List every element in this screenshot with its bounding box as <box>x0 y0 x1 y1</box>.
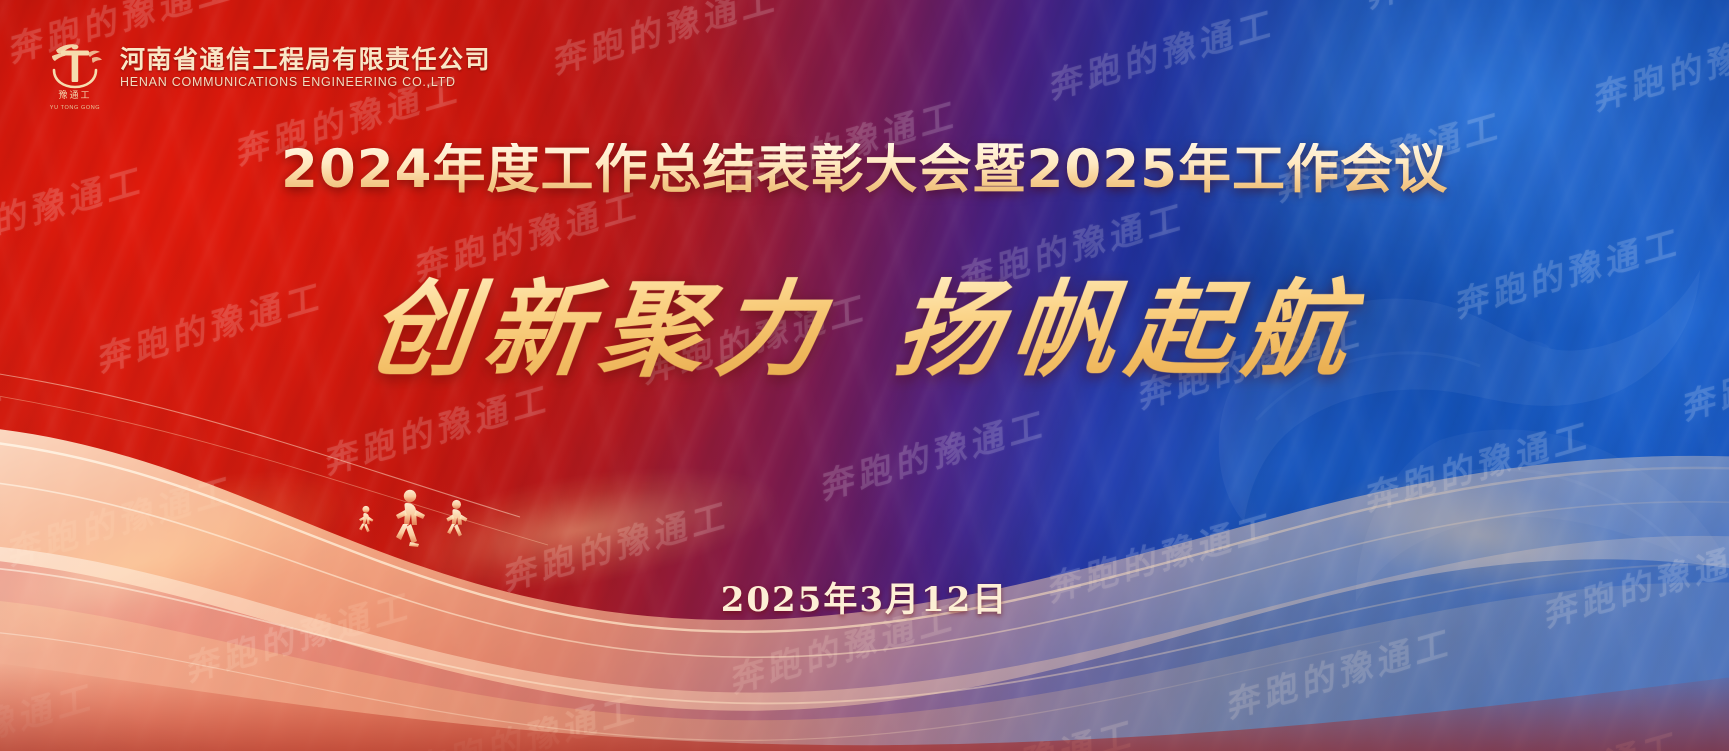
company-name-en: HENAN COMMUNICATIONS ENGINEERING CO.,LTD <box>120 76 491 90</box>
slogan-part-1: 创新聚力 <box>362 272 840 388</box>
running-figures-icon <box>352 483 492 555</box>
flowing-ribbon-wave-icon <box>0 331 1729 751</box>
company-logo-block: 豫通工 YU TONG GONG 河南省通信工程局有限责任公司 HENAN CO… <box>44 36 491 98</box>
slogan-part-2: 扬帆起航 <box>888 272 1366 388</box>
logo-mark-cn-text: 豫通工 <box>44 88 106 101</box>
slogan-block: 创新聚力 扬帆起航 <box>0 272 1729 388</box>
logo-mark-pinyin-text: YU TONG GONG <box>44 105 106 111</box>
company-name-cn: 河南省通信工程局有限责任公司 <box>120 47 491 73</box>
company-dragon-emblem-icon: 豫通工 YU TONG GONG <box>44 36 106 98</box>
event-date: 2025年3月12日 <box>0 572 1729 621</box>
conference-backdrop-banner: 奔跑的豫通工 奔跑的豫通工 奔跑的豫通工 奔跑的豫通工 奔跑的豫通工 奔跑的豫通… <box>0 0 1729 751</box>
event-date-text: 2025年3月12日 <box>721 580 1009 620</box>
page-title: 2024年度工作总结表彰大会暨2025年工作会议 <box>0 143 1729 196</box>
